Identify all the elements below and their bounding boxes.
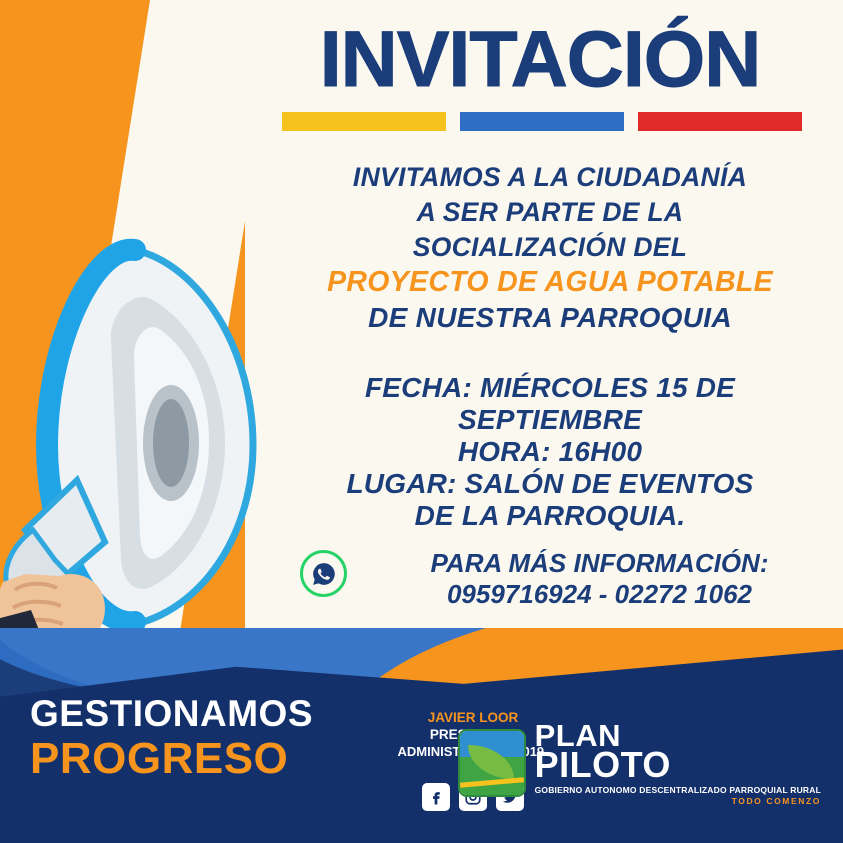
plan-piloto-logo: PLAN PILOTO GOBIERNO AUTONOMO DESCENTRAL… bbox=[458, 720, 821, 805]
body-line-highlight: PROYECTO DE AGUA POTABLE bbox=[265, 265, 835, 300]
poster-footer: GESTIONAMOS PROGRESO JAVIER LOOR PRESIDE… bbox=[0, 628, 843, 843]
invitation-body: INVITAMOS A LA CIUDADANÍA A SER PARTE DE… bbox=[265, 160, 835, 335]
contact-text: PARA MÁS INFORMACIÓN: 0959716924 - 02272… bbox=[359, 548, 840, 610]
accent-bar-red bbox=[638, 112, 802, 131]
invitation-poster: INVITACIÓN INVITAMOS A LA CIUDADANÍA A S… bbox=[0, 0, 843, 843]
body-line-2: A SER PARTE DE LA bbox=[265, 195, 835, 230]
page-title: INVITACIÓN bbox=[250, 16, 830, 102]
logo-subtitle: GOBIERNO AUTONOMO DESCENTRALIZADO PARROQ… bbox=[535, 786, 821, 795]
logo-text: PLAN PILOTO GOBIERNO AUTONOMO DESCENTRAL… bbox=[535, 720, 821, 805]
detail-month: SEPTIEMBRE bbox=[265, 404, 835, 436]
body-line-1: INVITAMOS A LA CIUDADANÍA bbox=[265, 160, 835, 195]
contact-phones: 0959716924 - 02272 1062 bbox=[359, 579, 840, 610]
flag-accent-bars bbox=[282, 112, 802, 131]
detail-time: HORA: 16H00 bbox=[265, 436, 835, 468]
detail-place-2: DE LA PARROQUIA. bbox=[265, 500, 835, 532]
event-details: FECHA: MIÉRCOLES 15 DE SEPTIEMBRE HORA: … bbox=[265, 372, 835, 532]
logo-line-2: PILOTO bbox=[535, 747, 821, 783]
accent-bar-blue bbox=[460, 112, 624, 131]
body-line-3: SOCIALIZACIÓN DEL bbox=[265, 230, 835, 265]
slogan: GESTIONAMOS PROGRESO bbox=[30, 693, 313, 783]
slogan-line-2: PROGRESO bbox=[30, 735, 313, 783]
slogan-line-1: GESTIONAMOS bbox=[30, 693, 313, 735]
logo-emblem-icon bbox=[458, 729, 526, 797]
body-line-5: DE NUESTRA PARROQUIA bbox=[265, 300, 835, 335]
accent-bar-yellow bbox=[282, 112, 446, 131]
detail-place: LUGAR: SALÓN DE EVENTOS bbox=[265, 468, 835, 500]
poster-title-wrap: INVITACIÓN bbox=[250, 16, 830, 102]
contact-heading: PARA MÁS INFORMACIÓN: bbox=[359, 548, 840, 579]
facebook-icon[interactable] bbox=[422, 783, 450, 811]
whatsapp-icon bbox=[300, 550, 347, 597]
detail-date: FECHA: MIÉRCOLES 15 DE bbox=[265, 372, 835, 404]
logo-tagline: TODO COMENZO bbox=[535, 797, 821, 806]
contact-block: PARA MÁS INFORMACIÓN: 0959716924 - 02272… bbox=[300, 548, 840, 610]
